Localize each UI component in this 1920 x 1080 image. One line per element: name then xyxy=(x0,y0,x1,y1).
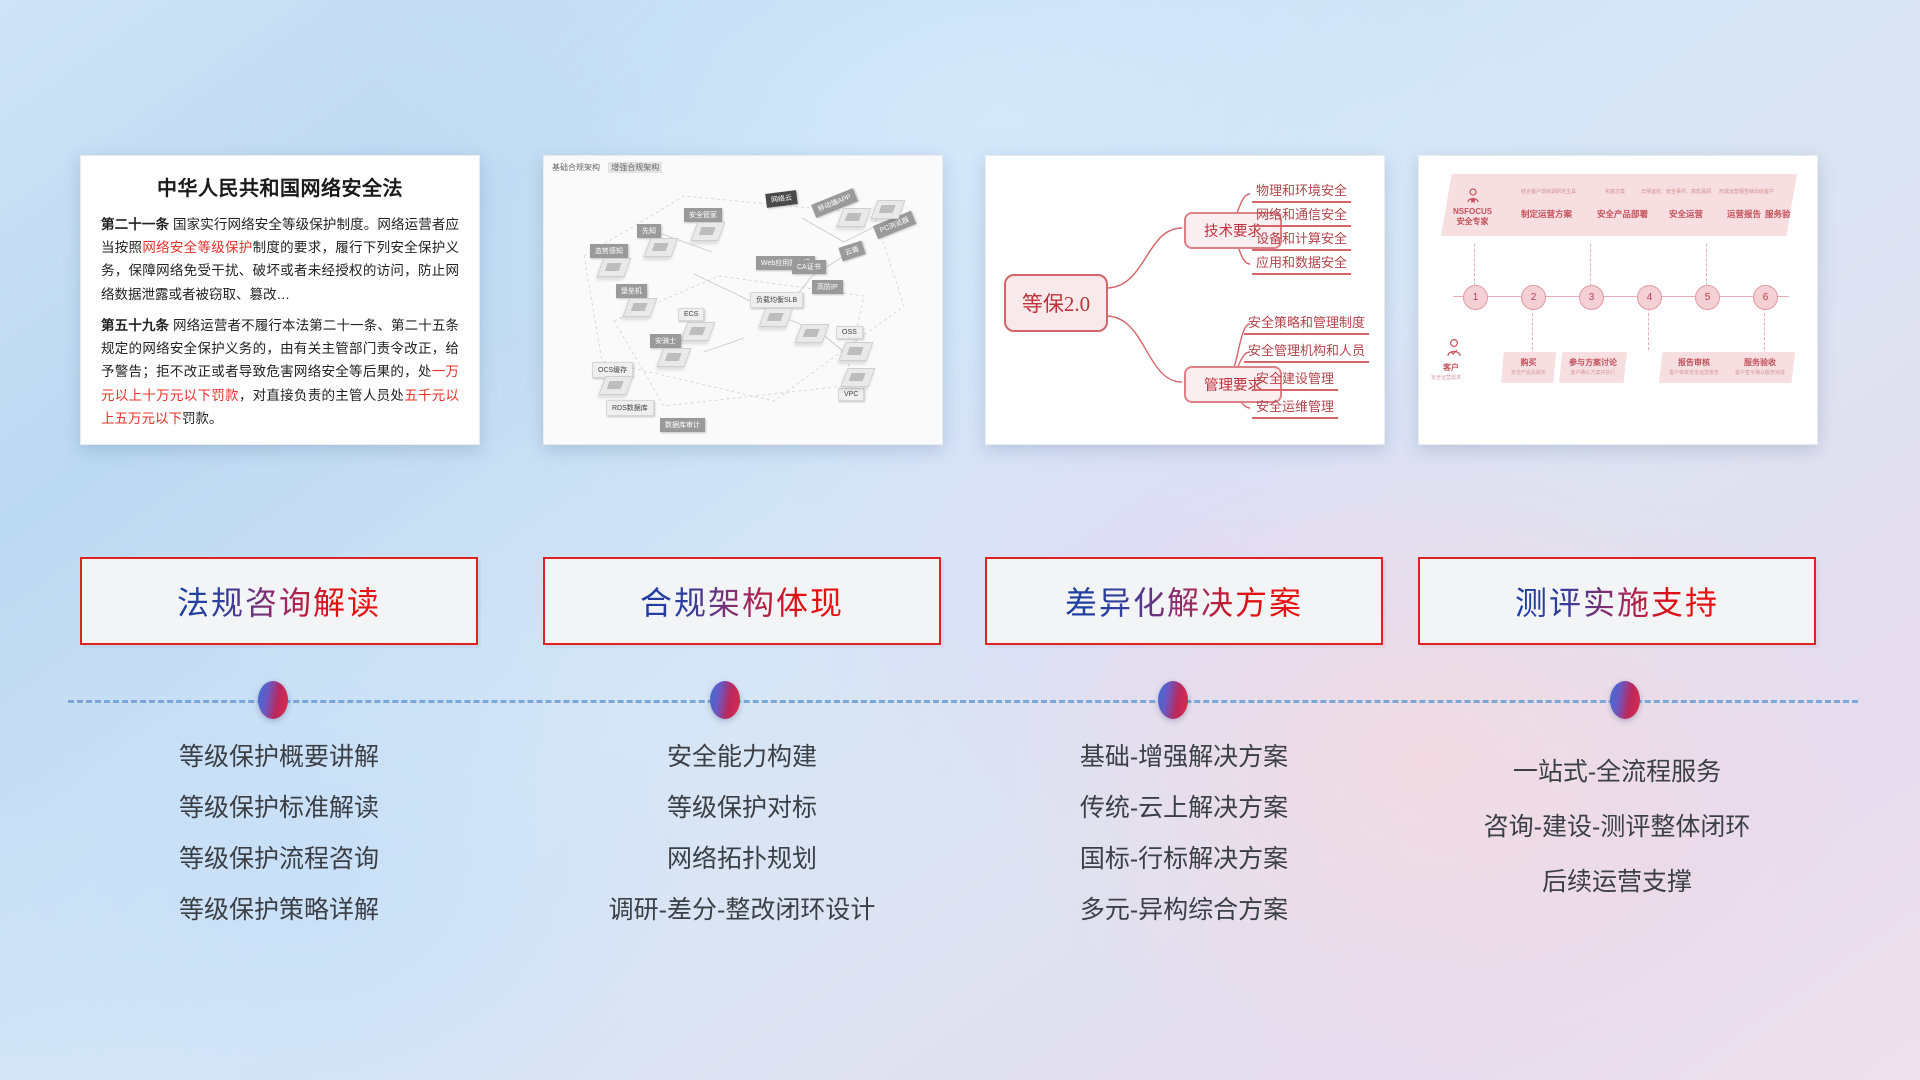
list-item: 多元-异构综合方案 xyxy=(985,898,1383,923)
bottom-chip-purchase: 购买 安全产品及服务 xyxy=(1501,352,1556,383)
band-label-1: 安全产品部署 xyxy=(1597,208,1648,220)
timeline-dot-2[interactable] xyxy=(710,681,740,719)
thumbnail-card-architecture[interactable]: 基础合规架构 增强合规架构 网络云 安全管家 先知 xyxy=(543,155,943,445)
list-column-regulation: 等级保护概要讲解 等级保护标准解读 等级保护流程咨询 等级保护策略详解 xyxy=(80,745,478,949)
node-ecs: ECS xyxy=(678,308,704,321)
list-column-architecture: 安全能力构建 等级保护对标 网络拓扑规划 调研-差分-整改闭环设计 xyxy=(543,745,941,949)
mindmap-root-node: 等保2.0 xyxy=(1004,274,1108,332)
list-item: 等级保护对标 xyxy=(543,796,941,821)
thumbnail-card-mindmap[interactable]: 等保2.0 技术要求 管理要求 物理和环境安全 网络和通信安全 设备和计算安全 … xyxy=(985,155,1385,445)
node-xianzhi: 先知 xyxy=(637,224,661,238)
node-security-butler: 安全管家 xyxy=(684,208,722,222)
list-item: 传统-云上解决方案 xyxy=(985,796,1383,821)
list-item: 国标-行标解决方案 xyxy=(985,847,1383,872)
timeline-step-1: 1 xyxy=(1463,285,1488,310)
node-slb: 负载均衡SLB xyxy=(750,292,803,308)
mindmap-leaf-physical: 物理和环境安全 xyxy=(1252,180,1351,203)
band-sub-3: 形成运营报告输出给客户 xyxy=(1719,188,1774,195)
law-document: 中华人民共和国网络安全法 第二十一条 国家实行网络安全等级保护制度。网络运营者应… xyxy=(81,156,479,444)
bottom-label-discussion: 参与方案讨论 xyxy=(1569,358,1617,367)
list-item: 网络拓扑规划 xyxy=(543,847,941,872)
timeline-dot-4[interactable] xyxy=(1610,681,1640,719)
bottom-sub-discussion: 客户确认方案并执行 xyxy=(1569,370,1617,377)
brand-name: NSFOCUS xyxy=(1453,207,1492,217)
timeline-step-4: 4 xyxy=(1637,285,1662,310)
mindmap-dengbao: 等保2.0 技术要求 管理要求 物理和环境安全 网络和通信安全 设备和计算安全 … xyxy=(986,156,1384,444)
list-item: 基础-增强解决方案 xyxy=(985,745,1383,770)
band-sub-1: 实施方案 xyxy=(1605,188,1625,195)
title-label-architecture: 合规架构体现 xyxy=(640,578,844,624)
bottom-sub-acceptance: 客户签字确认服务完成 xyxy=(1735,370,1785,377)
thumbnail-card-nsfocus[interactable]: NSFOCUS 安全专家 结合客户现状调研定主具 制定运营方案 实施方案 安全产… xyxy=(1418,155,1818,445)
node-situation-awareness: 态势感知 xyxy=(590,244,628,258)
list-item: 一站式-全流程服务 xyxy=(1418,760,1816,785)
bottom-chip-acceptance: 服务验收 客户签字确认服务完成 xyxy=(1725,352,1795,383)
band-sub-2: 日常运处、安全事件、高危漏洞 xyxy=(1641,188,1711,195)
bottom-sub-customer: 安全运营需求 xyxy=(1431,374,1461,381)
timeline-dot-1[interactable] xyxy=(258,681,288,719)
customer-person-icon xyxy=(1445,338,1463,363)
law-article-21: 第二十一条 国家实行网络安全等级保护制度。网络运营者应当按照网络安全等级保护制度… xyxy=(101,213,459,306)
title-label-solution: 差异化解决方案 xyxy=(1065,578,1303,624)
timeline-step-6: 6 xyxy=(1753,285,1778,310)
node-bastion-host: 堡垒机 xyxy=(616,284,647,298)
timeline-step-5: 5 xyxy=(1695,285,1720,310)
node-database-audit: 数据库审计 xyxy=(660,418,705,432)
bottom-sub-purchase: 安全产品及服务 xyxy=(1511,370,1546,377)
service-band: NSFOCUS 安全专家 结合客户现状调研定主具 制定运营方案 实施方案 安全产… xyxy=(1441,174,1797,236)
title-box-evaluation[interactable]: 测评实施支持 xyxy=(1418,557,1816,645)
bottom-sub-review: 客户审核安全运营报告 xyxy=(1669,370,1719,377)
title-label-evaluation: 测评实施支持 xyxy=(1515,578,1719,624)
node-anqishi: 安骑士 xyxy=(650,334,681,348)
nsfocus-service-timeline: NSFOCUS 安全专家 结合客户现状调研定主具 制定运营方案 实施方案 安全产… xyxy=(1419,156,1817,444)
title-box-solution[interactable]: 差异化解决方案 xyxy=(985,557,1383,645)
bottom-chip-review: 报告审核 客户审核安全运营报告 xyxy=(1659,352,1729,383)
list-item: 后续运营支撑 xyxy=(1418,870,1816,895)
mindmap-leaf-construction: 安全建设管理 xyxy=(1252,368,1338,391)
law-article-59: 第五十九条 网络运营者不履行本法第二十一条、第二十五条规定的网络安全保护义务的，… xyxy=(101,314,459,430)
mindmap-leaf-application: 应用和数据安全 xyxy=(1252,252,1351,275)
mindmap-leaf-network: 网络和通信安全 xyxy=(1252,204,1351,227)
bottom-chip-discussion: 参与方案讨论 客户确认方案并执行 xyxy=(1559,352,1627,383)
bottom-label-customer: 客户 xyxy=(1443,362,1459,373)
band-label-4: 服务验收 xyxy=(1765,208,1799,220)
band-sub-0: 结合客户现状调研定主具 xyxy=(1521,188,1576,195)
mindmap-leaf-org: 安全管理机构和人员 xyxy=(1244,340,1369,363)
list-item: 等级保护标准解读 xyxy=(80,796,478,821)
thumbnail-card-law[interactable]: 中华人民共和国网络安全法 第二十一条 国家实行网络安全等级保护制度。网络运营者应… xyxy=(80,155,480,445)
band-label-0: 制定运营方案 xyxy=(1521,208,1572,220)
article-59-text-b: ，对直接负责的主管人员处 xyxy=(239,388,404,403)
list-column-evaluation: 一站式-全流程服务 咨询-建设-测评整体闭环 后续运营支撑 xyxy=(1418,760,1816,925)
title-box-architecture[interactable]: 合规架构体现 xyxy=(543,557,941,645)
law-title: 中华人民共和国网络安全法 xyxy=(101,172,459,201)
slide-root: 中华人民共和国网络安全法 第二十一条 国家实行网络安全等级保护制度。网络运营者应… xyxy=(0,0,1920,1080)
bottom-label-purchase: 购买 xyxy=(1521,358,1537,367)
band-label-3: 运营报告 xyxy=(1727,208,1761,220)
mindmap-leaf-device: 设备和计算安全 xyxy=(1252,228,1351,251)
bottom-label-review: 报告审核 xyxy=(1678,358,1710,367)
title-label-regulation: 法规咨询解读 xyxy=(177,578,381,624)
timeline-step-3: 3 xyxy=(1579,285,1604,310)
article-21-highlight: 网络安全等级保护 xyxy=(142,240,252,255)
node-anti-ddos-ip: 高防IP xyxy=(812,280,843,294)
list-item: 等级保护概要讲解 xyxy=(80,745,478,770)
cloud-architecture-diagram: 基础合规架构 增强合规架构 网络云 安全管家 先知 xyxy=(544,156,942,444)
article-59-text-c: 罚款。 xyxy=(182,411,223,426)
node-ca-certificate: CA证书 xyxy=(792,260,826,274)
node-vpc: VPC xyxy=(838,388,864,401)
article-21-label: 第二十一条 xyxy=(101,217,169,232)
mindmap-leaf-policy: 安全策略和管理制度 xyxy=(1244,312,1369,335)
list-item: 调研-差分-整改闭环设计 xyxy=(543,898,941,923)
list-item: 咨询-建设-测评整体闭环 xyxy=(1418,815,1816,840)
list-item: 等级保护流程咨询 xyxy=(80,847,478,872)
timeline-step-2: 2 xyxy=(1521,285,1546,310)
band-label-2: 安全运营 xyxy=(1669,208,1703,220)
list-column-solution: 基础-增强解决方案 传统-云上解决方案 国标-行标解决方案 多元-异构综合方案 xyxy=(985,745,1383,949)
timeline-dashed-line xyxy=(68,700,1858,703)
brand-subtitle: 安全专家 xyxy=(1453,217,1492,227)
bottom-label-acceptance: 服务验收 xyxy=(1744,358,1776,367)
list-item: 等级保护策略详解 xyxy=(80,898,478,923)
nsfocus-brand: NSFOCUS 安全专家 xyxy=(1453,188,1492,227)
list-item: 安全能力构建 xyxy=(543,745,941,770)
timeline-dot-3[interactable] xyxy=(1158,681,1188,719)
node-rds-database: RDS数据库 xyxy=(606,400,654,416)
mindmap-leaf-ops: 安全运维管理 xyxy=(1252,396,1338,419)
title-box-regulation[interactable]: 法规咨询解读 xyxy=(80,557,478,645)
timeline-axis xyxy=(1453,296,1789,297)
expert-person-icon xyxy=(1465,188,1481,204)
node-oss: OSS xyxy=(836,326,863,339)
article-59-label: 第五十九条 xyxy=(101,318,169,333)
